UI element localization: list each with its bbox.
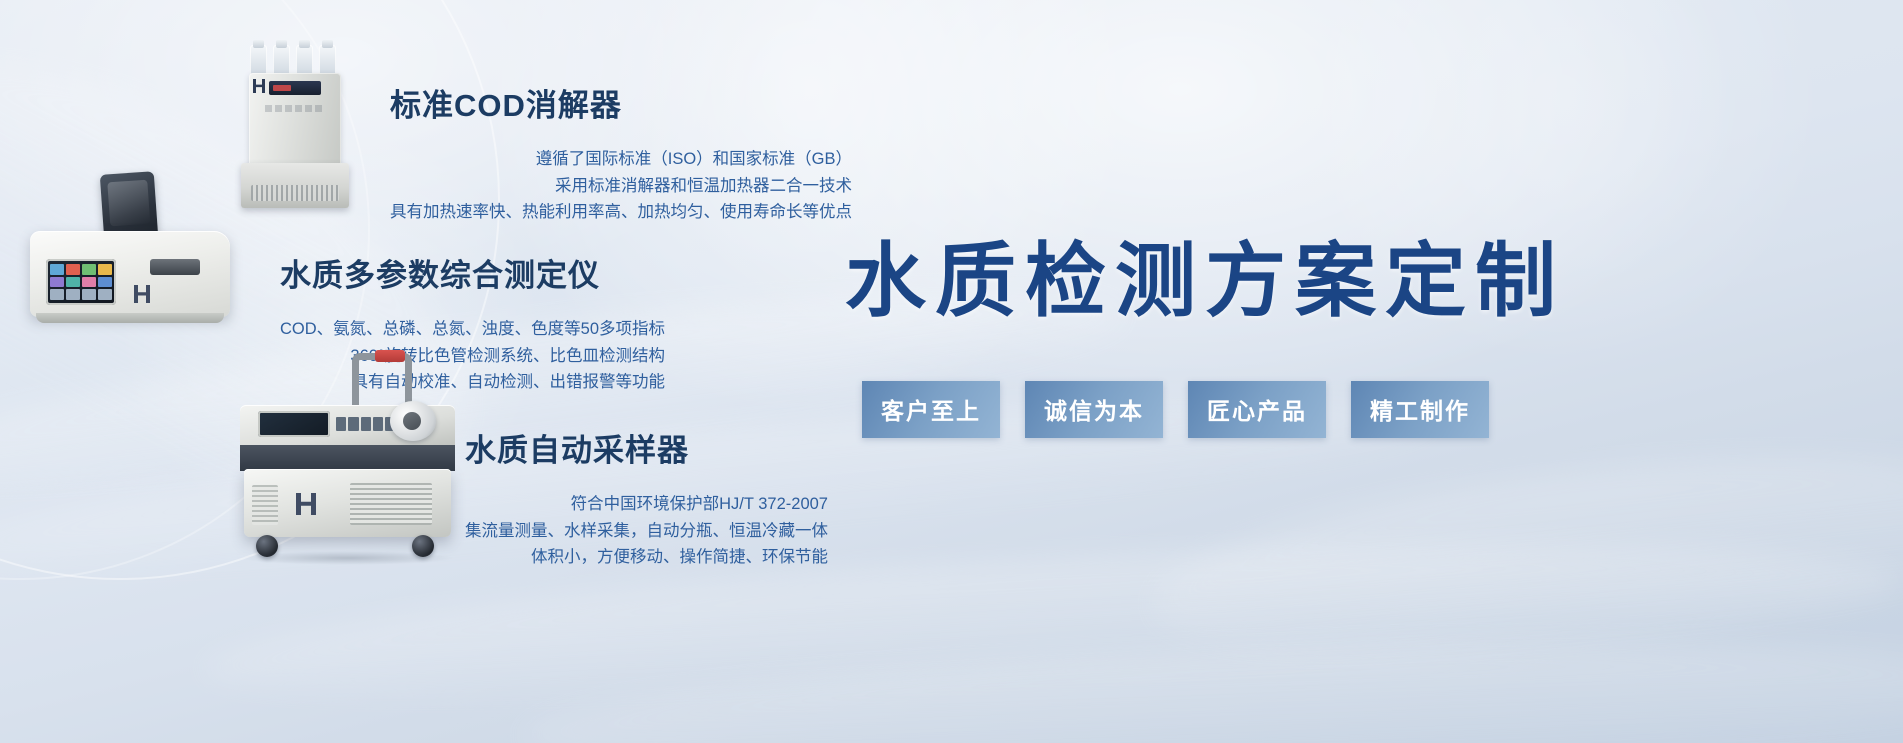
device-mid-band xyxy=(240,445,455,471)
ground-shadow xyxy=(240,551,455,565)
sample-well xyxy=(150,259,200,275)
auto-sampler-image xyxy=(240,405,455,560)
badge-integrity-based[interactable]: 诚信为本 xyxy=(1025,381,1163,438)
peristaltic-pump-icon xyxy=(390,401,436,441)
product-description-line: 360°旋转比色管检测系统、比色皿检测结构 xyxy=(280,343,665,370)
hero-section: 水质检测方案定制 xyxy=(845,238,1545,327)
background-light-sweep xyxy=(1143,423,1903,696)
product-description: COD、氨氮、总磷、总氮、浊度、色度等50多项指标 360°旋转比色管检测系统、… xyxy=(280,316,665,396)
product-description: 符合中国环境保护部HJ/T 372-2007 集流量测量、水样采集，自动分瓶、恒… xyxy=(465,491,828,571)
product-description: 遵循了国际标准（ISO）和国家标准（GB） 采用标准消解器和恒温加热器二合一技术… xyxy=(390,146,852,226)
product-description-line: 符合中国环境保护部HJ/T 372-2007 xyxy=(465,491,828,518)
product-description-line: 遵循了国际标准（ISO）和国家标准（GB） xyxy=(390,146,852,173)
display-panel xyxy=(269,81,321,95)
multiparameter-analyzer-image xyxy=(30,215,230,335)
cod-digester-image xyxy=(235,45,355,210)
product-description-line: 具有加热速率快、热能利用率高、加热均匀、使用寿命长等优点 xyxy=(390,199,852,226)
product-description-line: 体积小，方便移动、操作简捷、环保节能 xyxy=(465,544,828,571)
product-description-line: 集流量测量、水样采集，自动分瓶、恒温冷藏一体 xyxy=(465,518,828,545)
product-row-auto-sampler: 水质自动采样器 符合中国环境保护部HJ/T 372-2007 集流量测量、水样采… xyxy=(240,405,455,560)
promo-banner: 标准COD消解器 遵循了国际标准（ISO）和国家标准（GB） 采用标准消解器和恒… xyxy=(0,0,1903,743)
product-title: 水质多参数综合测定仪 xyxy=(280,250,665,295)
product-row-cod-digester: 标准COD消解器 遵循了国际标准（ISO）和国家标准（GB） 采用标准消解器和恒… xyxy=(235,45,355,210)
device-label-strip xyxy=(265,105,325,112)
product-row-multiparameter-analyzer: 水质多参数综合测定仪 COD、氨氮、总磷、总氮、浊度、色度等50多项指标 360… xyxy=(30,215,230,335)
badge-customer-first[interactable]: 客户至上 xyxy=(862,381,1000,438)
product-description-line: 采用标准消解器和恒温加热器二合一技术 xyxy=(390,173,852,200)
cooling-vent xyxy=(350,483,432,525)
side-vent xyxy=(252,485,278,525)
product-description-line: 具有自动校准、自动检测、出错报警等功能 xyxy=(280,369,665,396)
badge-fine-workmanship[interactable]: 精工制作 xyxy=(1351,381,1489,438)
badge-craftsmanship-product[interactable]: 匠心产品 xyxy=(1188,381,1326,438)
display-panel xyxy=(258,411,330,437)
product-description-line: COD、氨氮、总磷、总氮、浊度、色度等50多项指标 xyxy=(280,316,665,343)
product-title: 水质自动采样器 xyxy=(465,425,828,470)
device-vents xyxy=(251,185,339,201)
background-light-sweep xyxy=(518,624,1903,743)
value-badge-list: 客户至上 诚信为本 匠心产品 精工制作 xyxy=(862,381,1489,438)
device-base xyxy=(36,313,224,323)
keypad xyxy=(50,264,112,300)
page-title: 水质检测方案定制 xyxy=(845,238,1545,327)
carry-handle xyxy=(352,353,412,409)
product-title: 标准COD消解器 xyxy=(390,80,852,125)
